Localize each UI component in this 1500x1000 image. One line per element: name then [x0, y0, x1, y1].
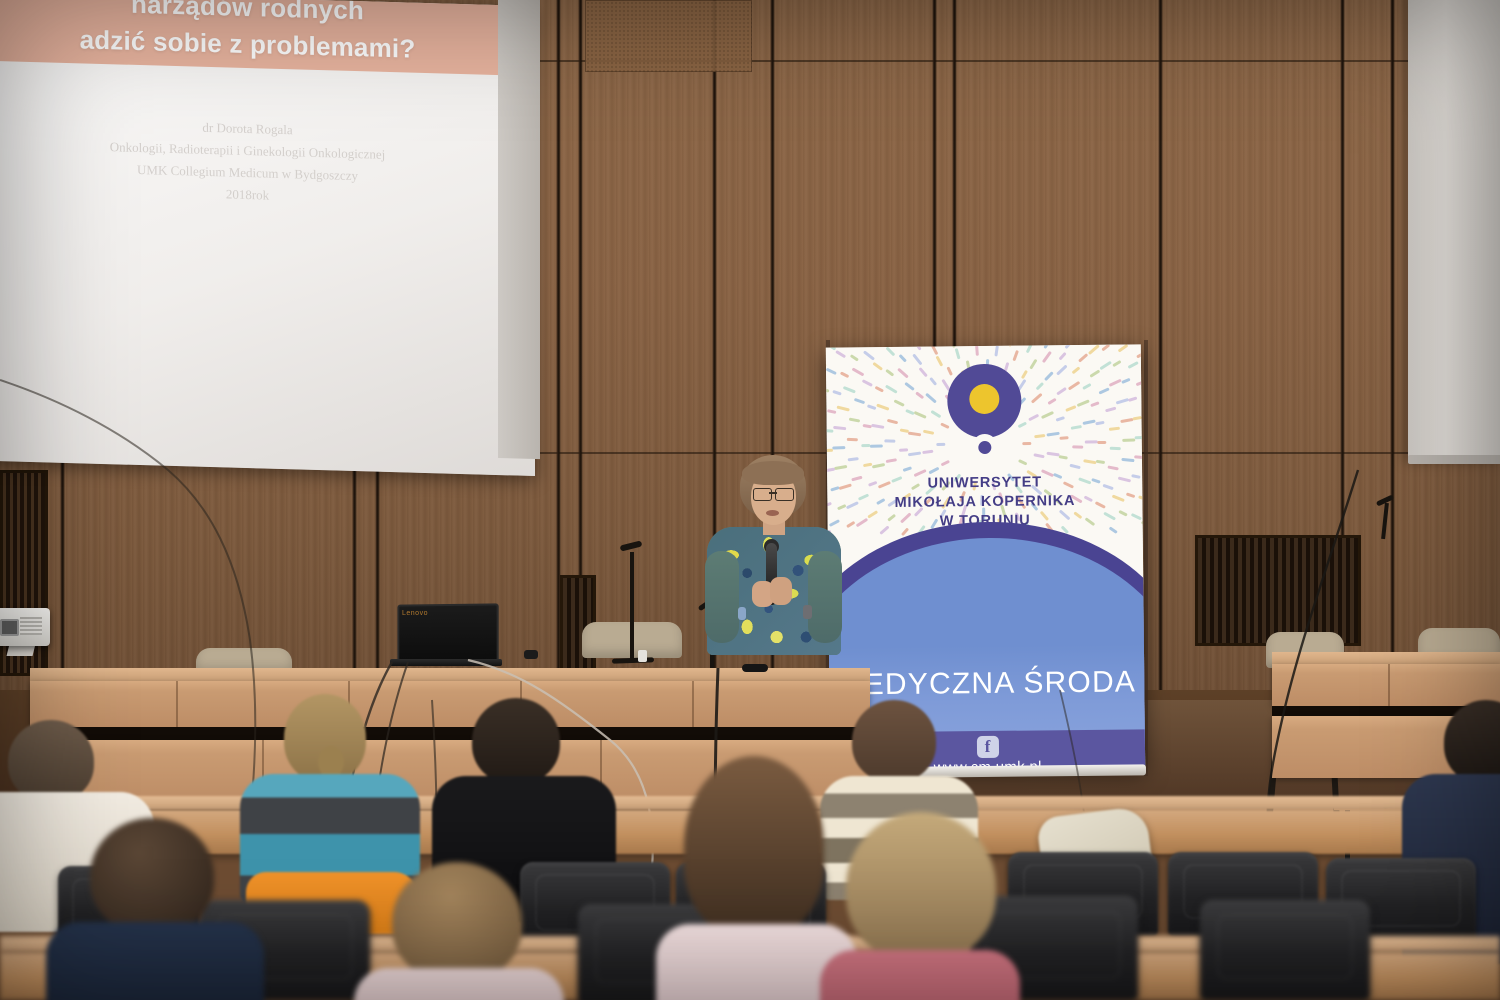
speaker-mouth — [766, 510, 779, 516]
wall-vertical-seam — [60, 440, 65, 700]
projection-screen-right-bottom-bar — [1408, 455, 1500, 464]
projection-screen-right — [1408, 0, 1500, 462]
audience-head — [8, 720, 94, 802]
audience-head — [852, 700, 936, 782]
right-desk-top — [1272, 652, 1500, 664]
audience-torso — [46, 922, 264, 1000]
audience-torso — [354, 968, 564, 1000]
audience-head — [392, 862, 522, 982]
eyeglasses-right-lens-icon — [775, 488, 794, 501]
wall-vertical-seam — [375, 440, 380, 700]
radiator-grille-right — [1195, 535, 1361, 646]
facebook-icon: f — [976, 736, 998, 758]
laptop-brand-label: Lenovo — [402, 610, 428, 617]
audience-head — [846, 812, 996, 962]
speaker-bracelet — [738, 607, 746, 620]
clicker-on-desk[interactable] — [742, 664, 768, 672]
ceiling-projector — [0, 608, 50, 646]
audience-torso — [820, 950, 1020, 1000]
speaker-hair-fringe — [742, 461, 804, 485]
speaker-presenter — [700, 455, 850, 680]
speaker-wristwatch — [803, 605, 812, 619]
lecture-hall-photo: kobiety w chorobie nowotworowej narządów… — [0, 0, 1500, 1000]
audience-head — [90, 818, 214, 934]
microphone-stand-pole — [630, 552, 634, 662]
laptop-base[interactable] — [390, 659, 502, 666]
desk-seam — [692, 681, 694, 727]
eyeglasses-bridge-icon — [769, 492, 777, 494]
banner-event-title: MEDYCZNA ŚRODA — [829, 665, 1144, 702]
wall-vertical-seam — [1390, 0, 1395, 700]
stage-desk-front — [30, 681, 870, 727]
projector-vent — [20, 617, 42, 635]
right-desk-front — [1272, 664, 1500, 706]
projection-screen-left: kobiety w chorobie nowotworowej narządów… — [0, 0, 535, 476]
logo-yellow-dot-icon — [969, 384, 999, 414]
logo-small-purple-dot-icon — [978, 441, 991, 454]
wall-vertical-seam — [1158, 0, 1163, 700]
acoustic-perforated-panel — [585, 0, 752, 72]
slide-subtext: dr Dorota Rogala Onkologii, Radioterapii… — [0, 110, 535, 214]
projection-screen-left-frame — [498, 0, 540, 459]
stage-desk-shadow-gap — [30, 727, 870, 740]
wall-vertical-seam — [352, 440, 357, 700]
audience-head — [684, 756, 824, 936]
eyeglasses-left-lens-icon — [753, 488, 772, 501]
speaker-right-hand — [770, 577, 792, 605]
usb-stick[interactable] — [638, 650, 647, 662]
audience-head — [472, 698, 560, 784]
presenter-remote[interactable] — [524, 650, 538, 659]
desk-seam — [176, 681, 178, 727]
speaker-left-arm — [705, 551, 739, 643]
projector-lens-icon — [0, 619, 19, 636]
desk-seam — [1388, 664, 1390, 706]
speaker-right-arm — [808, 551, 842, 643]
auditorium-seat-front[interactable] — [1200, 900, 1370, 1000]
